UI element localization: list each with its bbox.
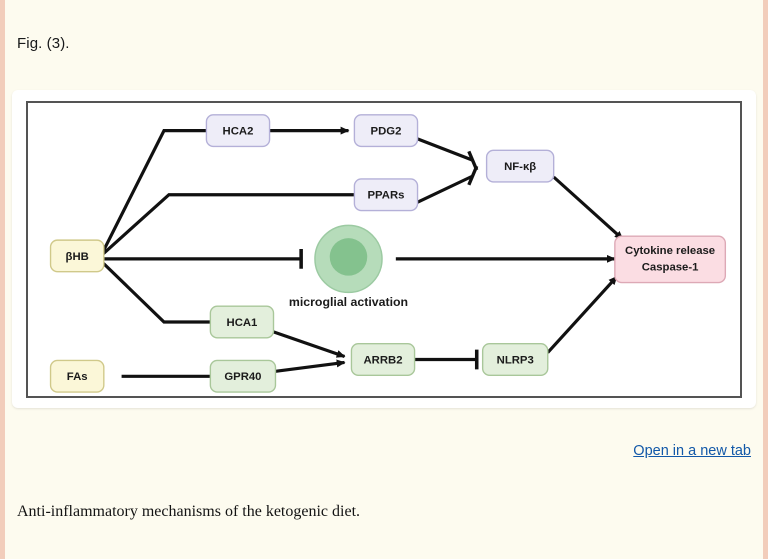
edge-hca1-to-arrb2 (274, 332, 345, 357)
node-cytokine-label-line2: Caspase-1 (642, 262, 699, 274)
figure-card: βHB FAs HCA2 PDG2 PPARs (12, 90, 756, 408)
microglia-cell-icon (315, 225, 382, 292)
node-ppars-label: PPARs (368, 190, 405, 202)
node-nlrp3[interactable]: NLRP3 (483, 344, 548, 376)
edge-pdg2-to-nfkb (417, 139, 473, 161)
node-fas-label: FAs (67, 371, 88, 383)
figure-number-label: Fig. (3). (17, 35, 70, 52)
edge-nfkb-to-cytokine (554, 177, 623, 239)
node-ppars[interactable]: PPARs (354, 179, 417, 211)
node-arrb2-label: ARRB2 (363, 354, 402, 366)
node-nfkb-label: NF-κβ (504, 161, 536, 173)
node-hca2-label: HCA2 (223, 126, 254, 138)
edge-ppars-to-nfkb (417, 176, 473, 203)
edge-gpr40-to-arrb2 (275, 362, 344, 371)
node-pdg2-label: PDG2 (371, 126, 402, 138)
pathway-diagram: βHB FAs HCA2 PDG2 PPARs (28, 103, 740, 396)
node-bhb[interactable]: βHB (51, 240, 104, 272)
open-in-new-tab-link[interactable]: Open in a new tab (633, 443, 751, 459)
node-hca1[interactable]: HCA1 (210, 306, 273, 338)
page-left-accent-border (0, 0, 5, 559)
page-right-accent-border (763, 0, 768, 559)
figure-image-frame[interactable]: βHB FAs HCA2 PDG2 PPARs (26, 101, 742, 398)
node-hca2[interactable]: HCA2 (206, 115, 269, 147)
node-cytokine-label-line1: Cytokine release (625, 245, 715, 257)
node-nlrp3-label: NLRP3 (497, 354, 534, 366)
node-gpr40[interactable]: GPR40 (210, 360, 275, 392)
microglia-cell-caption: microglial activation (289, 295, 408, 309)
node-arrb2[interactable]: ARRB2 (351, 344, 414, 376)
figure-caption: Anti-inflammatory mechanisms of the keto… (17, 503, 360, 521)
node-hca1-label: HCA1 (227, 317, 258, 329)
edge-nlrp3-to-cytokine (548, 277, 617, 353)
node-cytokine-release[interactable]: Cytokine release Caspase-1 (615, 236, 725, 282)
node-pdg2[interactable]: PDG2 (354, 115, 417, 147)
edge-bhb-to-hca1 (101, 261, 211, 322)
inhibit-bar-nfkb-from-ppars (469, 166, 477, 185)
node-nfkb[interactable]: NF-κβ (487, 150, 554, 182)
node-fas[interactable]: FAs (51, 360, 104, 392)
node-gpr40-label: GPR40 (224, 371, 261, 383)
node-bhb-label: βHB (66, 251, 89, 263)
